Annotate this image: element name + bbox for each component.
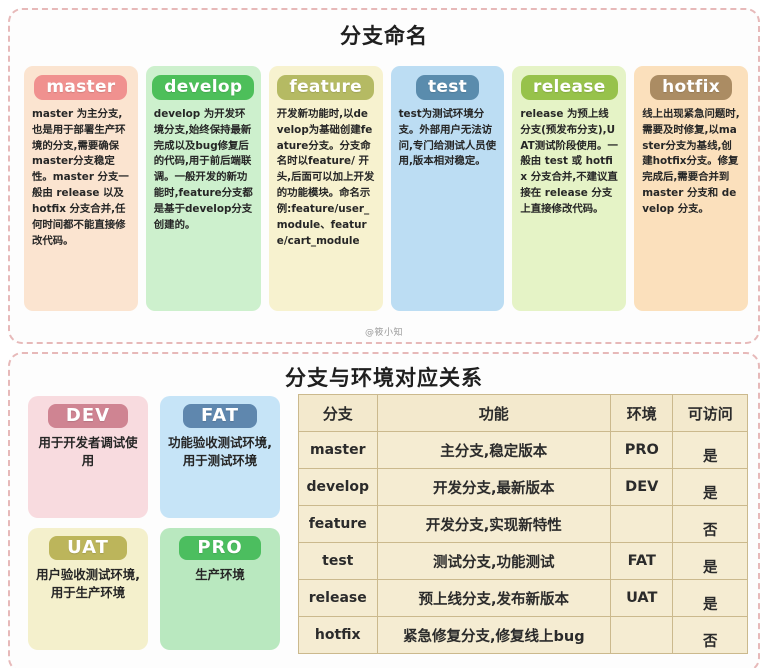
table-header-environment: 环境 <box>611 395 673 432</box>
cell-function: 开发分支,实现新特性 <box>377 506 611 543</box>
branch-naming-panel: 分支命名 master master 为主分支,也是用于部署生产环境的分支,需要… <box>8 8 760 344</box>
cell-environment: UAT <box>611 580 673 617</box>
cell-environment: FAT <box>611 543 673 580</box>
cell-function: 主分支,稳定版本 <box>377 432 611 469</box>
branch-card-release: release release 为预上线分支(预发布分支),UAT测试阶段使用。… <box>512 66 626 311</box>
branch-description-release: release 为预上线分支(预发布分支),UAT测试阶段使用。一般由 test… <box>520 107 618 218</box>
table-header-accessible: 可访问 <box>673 395 748 432</box>
environment-card-grid: DEV 用于开发者调试使用 FAT 功能验收测试环境,用于测试环境 UAT 用户… <box>28 396 290 650</box>
cell-accessible: 否 <box>673 617 748 654</box>
table-header-branch: 分支 <box>299 395 378 432</box>
env-card-uat: UAT 用户验收测试环境,用于生产环境 <box>28 528 148 650</box>
env-description-dev: 用于开发者调试使用 <box>34 434 142 470</box>
env-description-pro: 生产环境 <box>195 566 245 584</box>
cell-function: 测试分支,功能测试 <box>377 543 611 580</box>
branch-description-master: master 为主分支,也是用于部署生产环境的分支,需要确保master分支稳定… <box>32 107 130 249</box>
table-row: feature 开发分支,实现新特性 否 <box>299 506 748 543</box>
cell-environment: PRO <box>611 432 673 469</box>
page-title-branch-environment: 分支与环境对应关系 <box>10 362 758 392</box>
branch-card-master: master master 为主分支,也是用于部署生产环境的分支,需要确保mas… <box>24 66 138 311</box>
cell-branch: release <box>299 580 378 617</box>
branch-description-feature: 开发新功能时,以develop为基础创建feature分支。分支命名时以feat… <box>277 107 375 249</box>
branch-card-test: test test为测试环境分支。外部用户无法访问,专门给测试人员使用,版本相对… <box>391 66 505 311</box>
cell-accessible: 是 <box>673 469 748 506</box>
cell-accessible: 是 <box>673 432 748 469</box>
env-chip-dev: DEV <box>48 404 128 428</box>
branch-environment-panel: 分支与环境对应关系 DEV 用于开发者调试使用 FAT 功能验收测试环境,用于测… <box>8 352 760 668</box>
env-chip-fat: FAT <box>183 404 257 428</box>
branch-chip-feature: feature <box>277 75 374 100</box>
cell-function: 开发分支,最新版本 <box>377 469 611 506</box>
branch-chip-release: release <box>521 75 618 100</box>
env-chip-uat: UAT <box>49 536 127 560</box>
branch-card-feature: feature 开发新功能时,以develop为基础创建feature分支。分支… <box>269 66 383 311</box>
branch-chip-develop: develop <box>152 75 254 100</box>
table-row: develop 开发分支,最新版本 DEV 是 <box>299 469 748 506</box>
branch-description-hotfix: 线上出现紧急问题时,需要及时修复,以master分支为基线,创建hotfix分支… <box>642 107 740 218</box>
branch-description-develop: develop 为开发环境分支,始终保持最新完成以及bug修复后的代码,用于前后… <box>154 107 253 234</box>
env-card-pro: PRO 生产环境 <box>160 528 280 650</box>
cell-accessible: 是 <box>673 543 748 580</box>
cell-branch: develop <box>299 469 378 506</box>
table-row: release 预上线分支,发布新版本 UAT 是 <box>299 580 748 617</box>
table-row: test 测试分支,功能测试 FAT 是 <box>299 543 748 580</box>
env-card-fat: FAT 功能验收测试环境,用于测试环境 <box>160 396 280 518</box>
cell-function: 预上线分支,发布新版本 <box>377 580 611 617</box>
table-header-function: 功能 <box>377 395 611 432</box>
cell-environment: DEV <box>611 469 673 506</box>
watermark-author: @筱小知 <box>10 325 758 338</box>
branch-chip-hotfix: hotfix <box>650 75 732 100</box>
cell-branch: hotfix <box>299 617 378 654</box>
cell-branch: test <box>299 543 378 580</box>
env-description-uat: 用户验收测试环境,用于生产环境 <box>34 566 142 602</box>
table-header-row: 分支 功能 环境 可访问 <box>299 395 748 432</box>
branch-card-hotfix: hotfix 线上出现紧急问题时,需要及时修复,以master分支为基线,创建h… <box>634 66 748 311</box>
cell-branch: feature <box>299 506 378 543</box>
env-chip-pro: PRO <box>179 536 260 560</box>
cell-accessible: 否 <box>673 506 748 543</box>
env-card-dev: DEV 用于开发者调试使用 <box>28 396 148 518</box>
cell-branch: master <box>299 432 378 469</box>
branch-chip-test: test <box>416 75 479 100</box>
cell-accessible: 是 <box>673 580 748 617</box>
branch-chip-master: master <box>34 75 127 100</box>
table-row: master 主分支,稳定版本 PRO 是 <box>299 432 748 469</box>
env-description-fat: 功能验收测试环境,用于测试环境 <box>166 434 274 470</box>
cell-environment <box>611 617 673 654</box>
branch-card-row: master master 为主分支,也是用于部署生产环境的分支,需要确保mas… <box>24 66 748 311</box>
table-row: hotfix 紧急修复分支,修复线上bug 否 <box>299 617 748 654</box>
branch-environment-table: 分支 功能 环境 可访问 master 主分支,稳定版本 PRO 是 devel… <box>298 394 748 654</box>
branch-description-test: test为测试环境分支。外部用户无法访问,专门给测试人员使用,版本相对稳定。 <box>399 107 497 170</box>
branch-card-develop: develop develop 为开发环境分支,始终保持最新完成以及bug修复后… <box>146 66 261 311</box>
cell-environment <box>611 506 673 543</box>
branch-environment-table-wrapper: 分支 功能 环境 可访问 master 主分支,稳定版本 PRO 是 devel… <box>298 394 748 654</box>
page-title-branch-naming: 分支命名 <box>10 20 758 50</box>
cell-function: 紧急修复分支,修复线上bug <box>377 617 611 654</box>
